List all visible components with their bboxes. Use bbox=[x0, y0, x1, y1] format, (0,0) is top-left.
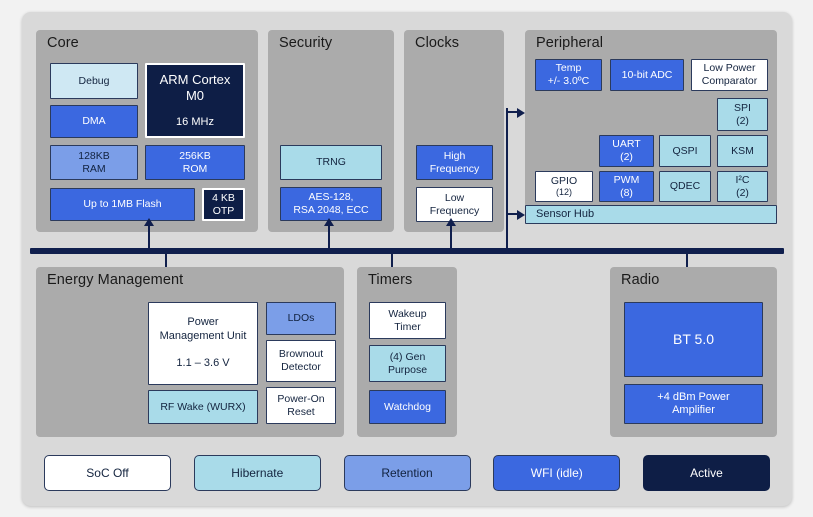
bus-arrow-core-up bbox=[144, 218, 154, 226]
block-power-amplifier[interactable]: +4 dBm Power Amplifier bbox=[624, 384, 763, 424]
group-clocks: Clocks High Frequency Low Frequency bbox=[404, 30, 504, 232]
system-bus bbox=[30, 248, 784, 254]
pmu-voltage: 1.1 – 3.6 V bbox=[176, 357, 229, 370]
group-security: Security TRNG AES-128, RSA 2048, ECC bbox=[268, 30, 394, 232]
otp-label: OTP bbox=[213, 205, 235, 218]
bus-arrow-sensor-hub-right bbox=[517, 210, 525, 220]
block-power-management-unit[interactable]: Power Management Unit 1.1 – 3.6 V bbox=[148, 302, 258, 385]
hf-line1: High bbox=[444, 150, 466, 163]
group-energy-title: Energy Management bbox=[47, 272, 183, 288]
temp-line1: Temp bbox=[556, 62, 582, 75]
crypto-line2: RSA 2048, ECC bbox=[293, 204, 368, 217]
pmu-line1: Power bbox=[187, 316, 218, 329]
pa-line1: +4 dBm Power bbox=[657, 391, 729, 404]
brownout-line1: Brownout bbox=[279, 348, 323, 361]
bus-link-peripheral bbox=[506, 108, 508, 250]
spi-line1: SPI bbox=[734, 102, 751, 115]
block-gpio[interactable]: GPIO (12) bbox=[535, 171, 593, 202]
block-pwm[interactable]: PWM (8) bbox=[599, 171, 654, 202]
block-arm-cortex-m0[interactable]: ARM Cortex M0 16 MHz bbox=[145, 63, 245, 138]
block-bluetooth[interactable]: BT 5.0 bbox=[624, 302, 763, 377]
hf-line2: Frequency bbox=[430, 163, 480, 176]
block-spi[interactable]: SPI (2) bbox=[717, 98, 768, 131]
group-radio: Radio BT 5.0 +4 dBm Power Amplifier bbox=[610, 267, 777, 437]
legend-item-active[interactable]: Active bbox=[643, 455, 770, 491]
por-line2: Reset bbox=[287, 406, 314, 419]
group-peripheral: Peripheral Temp +/- 3.0ºC 10-bit ADC Low… bbox=[525, 30, 777, 208]
bus-link-security bbox=[328, 224, 330, 250]
group-timers: Timers Wakeup Timer (4) Gen Purpose Watc… bbox=[357, 267, 457, 437]
legend-item-retention[interactable]: Retention bbox=[344, 455, 471, 491]
pmu-line2: Management Unit bbox=[160, 330, 247, 343]
cpu-name-line2: M0 bbox=[186, 88, 204, 104]
block-trng[interactable]: TRNG bbox=[280, 145, 382, 180]
block-temp-sensor[interactable]: Temp +/- 3.0ºC bbox=[535, 59, 602, 91]
bus-arrow-security-up bbox=[324, 218, 334, 226]
group-core-title: Core bbox=[47, 35, 79, 51]
block-general-purpose-timers[interactable]: (4) Gen Purpose bbox=[369, 345, 446, 382]
rom-label: ROM bbox=[183, 163, 208, 176]
gen-line2: Purpose bbox=[388, 364, 427, 377]
comparator-line1: Low Power bbox=[704, 62, 756, 75]
block-power-on-reset[interactable]: Power-On Reset bbox=[266, 387, 336, 424]
group-energy-management: Energy Management Power Management Unit … bbox=[36, 267, 344, 437]
group-timers-title: Timers bbox=[368, 272, 412, 288]
legend-item-hibernate[interactable]: Hibernate bbox=[194, 455, 321, 491]
pwm-line1: PWM bbox=[614, 174, 640, 187]
block-watchdog[interactable]: Watchdog bbox=[369, 390, 446, 424]
gpio-line1: GPIO bbox=[551, 175, 577, 188]
pwm-line2: (8) bbox=[620, 187, 633, 200]
block-wakeup-timer[interactable]: Wakeup Timer bbox=[369, 302, 446, 339]
lf-line1: Low bbox=[445, 192, 464, 205]
block-rf-wake[interactable]: RF Wake (WURX) bbox=[148, 390, 258, 424]
cpu-frequency: 16 MHz bbox=[176, 116, 214, 129]
block-debug[interactable]: Debug bbox=[50, 63, 138, 99]
block-otp[interactable]: 4 KB OTP bbox=[202, 188, 245, 221]
i2c-line2: (2) bbox=[736, 187, 749, 200]
block-crypto-engine[interactable]: AES-128, RSA 2048, ECC bbox=[280, 187, 382, 221]
block-rom[interactable]: 256KB ROM bbox=[145, 145, 245, 180]
group-security-title: Security bbox=[279, 35, 332, 51]
block-qdec[interactable]: QDEC bbox=[659, 171, 711, 202]
otp-size: 4 KB bbox=[212, 192, 235, 205]
por-line1: Power-On bbox=[277, 393, 324, 406]
block-qspi[interactable]: QSPI bbox=[659, 135, 711, 167]
bus-link-clocks bbox=[450, 224, 452, 250]
crypto-line1: AES-128, bbox=[309, 191, 354, 204]
chip-container: Core Debug DMA ARM Cortex M0 16 MHz 128K… bbox=[22, 12, 792, 506]
block-dma[interactable]: DMA bbox=[50, 105, 138, 138]
block-low-frequency-clock[interactable]: Low Frequency bbox=[416, 187, 493, 222]
brownout-line2: Detector bbox=[281, 361, 321, 374]
block-adc[interactable]: 10-bit ADC bbox=[610, 59, 684, 91]
block-ram[interactable]: 128KB RAM bbox=[50, 145, 138, 180]
block-high-frequency-clock[interactable]: High Frequency bbox=[416, 145, 493, 180]
gpio-line2: (12) bbox=[556, 187, 572, 198]
block-brownout-detector[interactable]: Brownout Detector bbox=[266, 340, 336, 382]
uart-line2: (2) bbox=[620, 151, 633, 164]
power-state-legend: SoC Off Hibernate Retention WFI (idle) A… bbox=[44, 454, 770, 492]
comparator-line2: Comparator bbox=[702, 75, 757, 88]
bus-link-core bbox=[148, 224, 150, 250]
uart-line1: UART bbox=[612, 138, 640, 151]
pa-line2: Amplifier bbox=[672, 404, 715, 417]
group-core: Core Debug DMA ARM Cortex M0 16 MHz 128K… bbox=[36, 30, 258, 232]
block-ksm[interactable]: KSM bbox=[717, 135, 768, 167]
gen-line1: (4) Gen bbox=[390, 351, 426, 364]
legend-item-wfi-idle[interactable]: WFI (idle) bbox=[493, 455, 620, 491]
group-clocks-title: Clocks bbox=[415, 35, 459, 51]
block-low-power-comparator[interactable]: Low Power Comparator bbox=[691, 59, 768, 91]
cpu-name-line1: ARM Cortex bbox=[160, 72, 231, 88]
lf-line2: Frequency bbox=[430, 205, 480, 218]
block-uart[interactable]: UART (2) bbox=[599, 135, 654, 167]
rom-size: 256KB bbox=[179, 150, 211, 163]
spi-line2: (2) bbox=[736, 115, 749, 128]
group-radio-title: Radio bbox=[621, 272, 659, 288]
bus-arrow-peripheral-right bbox=[517, 108, 525, 118]
block-flash[interactable]: Up to 1MB Flash bbox=[50, 188, 195, 221]
block-ldos[interactable]: LDOs bbox=[266, 302, 336, 335]
block-i2c[interactable]: I²C (2) bbox=[717, 171, 768, 202]
legend-item-soc-off[interactable]: SoC Off bbox=[44, 455, 171, 491]
group-peripheral-title: Peripheral bbox=[536, 35, 603, 51]
soc-block-diagram: Core Debug DMA ARM Cortex M0 16 MHz 128K… bbox=[0, 0, 813, 517]
block-sensor-hub[interactable]: Sensor Hub bbox=[525, 205, 777, 224]
temp-line2: +/- 3.0ºC bbox=[548, 75, 589, 88]
i2c-line1: I²C bbox=[736, 174, 750, 187]
wakeup-line2: Timer bbox=[394, 321, 420, 334]
ram-size: 128KB bbox=[78, 150, 110, 163]
bus-arrow-clocks-up bbox=[446, 218, 456, 226]
wakeup-line1: Wakeup bbox=[388, 308, 426, 321]
ram-label: RAM bbox=[82, 163, 105, 176]
